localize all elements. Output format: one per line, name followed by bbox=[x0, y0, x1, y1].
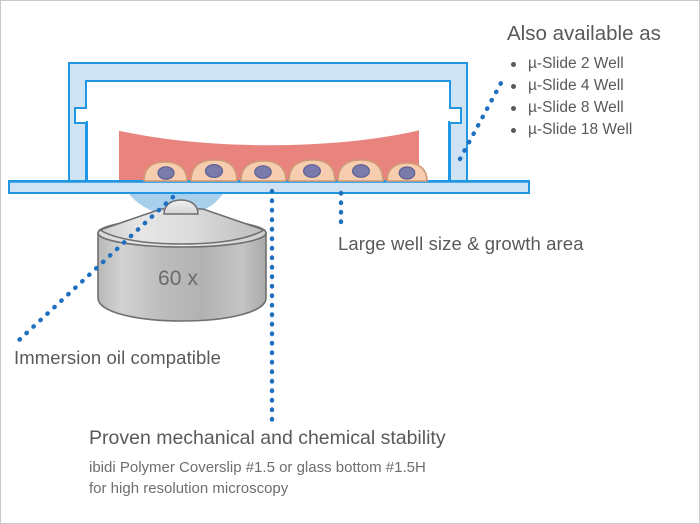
bullet-icon bbox=[511, 84, 516, 89]
proven-stability-subtitle: ibidi Polymer Coverslip #1.5 or glass bo… bbox=[89, 457, 609, 499]
bullet-icon bbox=[511, 128, 516, 133]
list-item-label: µ-Slide 2 Well bbox=[528, 55, 624, 72]
list-item-label: µ-Slide 4 Well bbox=[528, 77, 624, 94]
objective-magnification-label: 60 x bbox=[158, 267, 198, 291]
cell-nucleus bbox=[158, 167, 174, 179]
proven-stability-subtitle-line2: for high resolution microscopy bbox=[89, 478, 609, 499]
list-item: µ-Slide 2 Well bbox=[507, 53, 697, 75]
list-item: µ-Slide 4 Well bbox=[507, 75, 697, 97]
also-available-list: µ-Slide 2 Well µ-Slide 4 Well µ-Slide 8 … bbox=[507, 53, 697, 141]
proven-stability-subtitle-line1: ibidi Polymer Coverslip #1.5 or glass bo… bbox=[89, 457, 609, 478]
list-item: µ-Slide 8 Well bbox=[507, 97, 697, 119]
callout-large-well-label: Large well size & growth area bbox=[338, 233, 584, 255]
cell-nucleus bbox=[255, 166, 271, 178]
list-item: µ-Slide 18 Well bbox=[507, 119, 697, 141]
callout-immersion-oil-label: Immersion oil compatible bbox=[14, 346, 234, 370]
also-available-block: Also available as µ-Slide 2 Well µ-Slide… bbox=[507, 21, 697, 141]
bullet-icon bbox=[511, 106, 516, 111]
bullet-icon bbox=[511, 62, 516, 67]
also-available-title: Also available as bbox=[507, 21, 697, 47]
proven-stability-title: Proven mechanical and chemical stability bbox=[89, 425, 609, 451]
list-item-label: µ-Slide 18 Well bbox=[528, 121, 632, 138]
proven-stability-block: Proven mechanical and chemical stability… bbox=[89, 425, 609, 499]
objective-lens bbox=[98, 200, 266, 321]
cell-nucleus bbox=[353, 165, 370, 178]
cell-nucleus bbox=[206, 165, 223, 178]
cell-nucleus bbox=[399, 167, 415, 179]
cell-nucleus bbox=[304, 165, 321, 178]
list-item-label: µ-Slide 8 Well bbox=[528, 99, 624, 116]
figure-canvas: 60 x Also available as µ-Slide 2 Well µ-… bbox=[0, 0, 700, 524]
